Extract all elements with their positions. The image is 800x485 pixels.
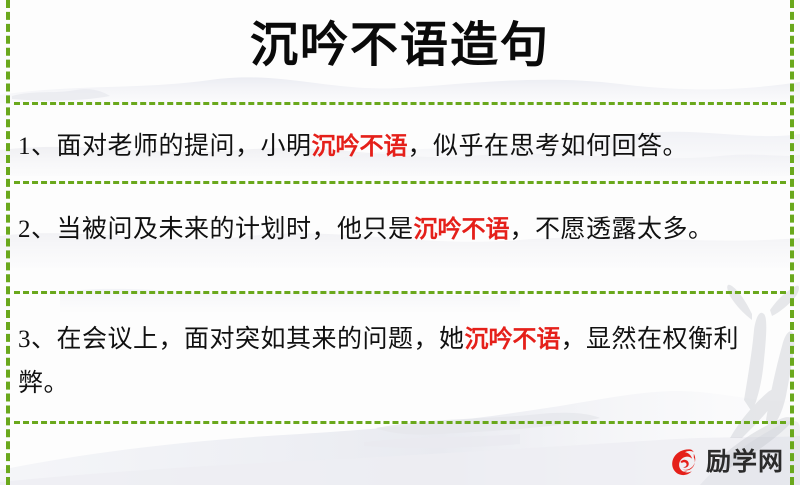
keyword-highlight: 沉吟不语 [414,215,510,243]
phoenix-swirl-icon [668,445,701,478]
divider-after-sentence-3 [14,421,786,424]
sentence-text-after: ，不愿透露太多。 [510,216,714,243]
sentence-index: 2、 [18,216,57,243]
divider-under-title [14,102,786,105]
site-logo-text: 励学网 [706,445,784,478]
divider-after-sentence-2 [14,291,786,294]
divider-after-sentence-1 [14,181,786,184]
list-item: 2、当被问及未来的计划时，他只是沉吟不语，不愿透露太多。 [18,207,782,252]
sentence-index: 3、 [18,326,57,353]
site-logo[interactable]: 励学网 [668,443,784,479]
sentence-text-before: 面对老师的提问，小明 [57,133,312,160]
sentence-text-after: ，似乎在思考如何回答。 [408,133,689,160]
sentence-index: 1、 [18,133,57,160]
page-title: 沉吟不语造句 [0,14,800,76]
sentence-text-before: 在会议上，面对突如其来的问题，她 [57,326,465,353]
keyword-highlight: 沉吟不语 [312,132,408,160]
worksheet-page: 沉吟不语造句 1、面对老师的提问，小明沉吟不语，似乎在思考如何回答。 2、当被问… [0,0,800,485]
keyword-highlight: 沉吟不语 [465,325,561,353]
list-item: 3、在会议上，面对突如其来的问题，她沉吟不语，显然在权衡利弊。 [18,317,782,406]
list-item: 1、面对老师的提问，小明沉吟不语，似乎在思考如何回答。 [18,124,782,169]
sentence-text-before: 当被问及未来的计划时，他只是 [57,216,414,243]
